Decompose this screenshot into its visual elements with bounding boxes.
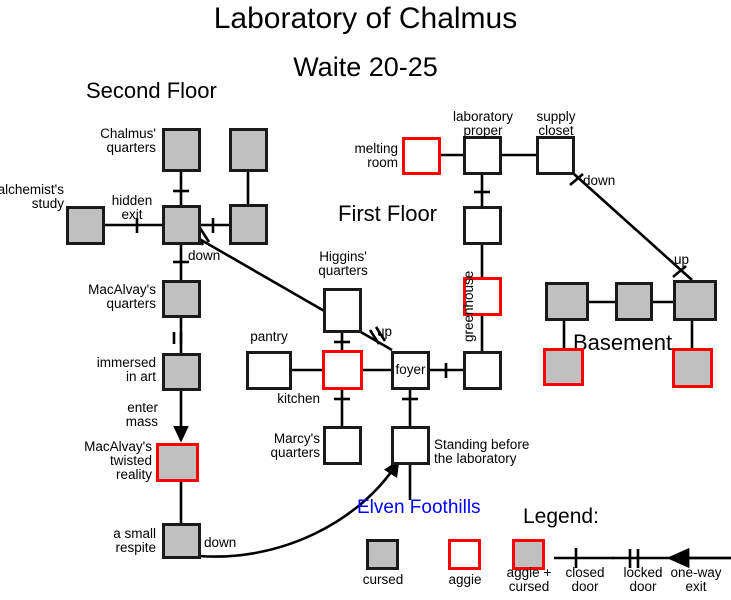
conn-label-down-supply: down [583, 174, 629, 188]
legend-label-cursed: cursed [343, 573, 423, 587]
room-lab-south[interactable] [463, 206, 502, 245]
room-basement-sw[interactable] [543, 348, 584, 386]
legend-swatch-cursed [366, 539, 399, 570]
room-chalmus-quarters[interactable] [162, 128, 201, 172]
room-melting-room[interactable] [402, 137, 441, 175]
room-laboratory-proper[interactable] [463, 136, 502, 175]
label-immersed-in-art: immersed in art [66, 356, 156, 384]
conn-label-down-respite: down [204, 536, 264, 550]
label-melting-room: melting room [306, 142, 398, 170]
room-basement-west[interactable] [545, 282, 589, 321]
room-foyer-east[interactable] [463, 351, 502, 390]
room-immersed-in-art[interactable] [162, 353, 201, 391]
room-library-upper[interactable] [229, 128, 268, 172]
room-macalvays-twisted-reality[interactable] [156, 443, 199, 482]
label-pantry: pantry [240, 330, 298, 344]
floor-label-basement: Basement [573, 330, 672, 356]
label-kitchen: kitchen [258, 392, 320, 406]
legend-label-one-way-exit: one-way exit [661, 566, 731, 594]
map-canvas: Laboratory of Chalmus Waite 20-25 Second… [0, 0, 731, 600]
page-title: Laboratory of Chalmus [0, 2, 731, 36]
label-standing-before-lab: Standing before the laboratory [434, 438, 564, 466]
label-greenhouse: greenhouse [461, 271, 476, 342]
floor-label-second: Second Floor [86, 78, 217, 104]
label-a-small-respite: a small respite [66, 527, 156, 555]
label-supply-closet: supply closet [509, 110, 603, 138]
room-basement-east[interactable] [673, 280, 717, 321]
room-basement-se[interactable] [672, 348, 713, 388]
room-marcys-quarters[interactable] [323, 426, 362, 465]
label-macalvays-twisted-reality: MacAlvay's twisted reality [58, 440, 152, 482]
conn-label-down-second: down [188, 249, 248, 263]
floor-label-first: First Floor [338, 201, 437, 227]
room-pantry[interactable] [246, 351, 292, 390]
label-higgins-quarters: Higgins' quarters [296, 250, 390, 278]
label-marcys-quarters: Marcy's quarters [230, 432, 320, 460]
label-alchemists-study: alchemist's study [0, 183, 64, 211]
conn-label-enter-mass: enter mass [96, 401, 158, 429]
room-a-small-respite[interactable] [162, 523, 201, 559]
elven-foothills-label: Elven Foothills [357, 497, 481, 519]
room-kitchen[interactable] [322, 350, 363, 390]
label-macalvays-quarters: MacAlvay's quarters [66, 283, 156, 311]
room-supply-closet[interactable] [536, 136, 575, 175]
label-chalmus-quarters: Chalmus' quarters [66, 127, 156, 155]
conn-label-up-foyer: up [377, 325, 407, 339]
room-library-lower[interactable] [229, 204, 268, 245]
room-higgins-quarters[interactable] [323, 288, 362, 333]
conn-label-up-basement: up [674, 253, 702, 267]
legend-title: Legend: [523, 505, 599, 529]
room-macalvays-quarters[interactable] [162, 280, 201, 318]
room-standing-before-lab[interactable] [391, 426, 430, 465]
legend-swatch-aggie [448, 539, 481, 570]
conn-label-hidden-exit: hidden exit [92, 194, 172, 222]
room-basement-mid[interactable] [615, 282, 653, 321]
label-foyer: foyer [388, 363, 433, 377]
